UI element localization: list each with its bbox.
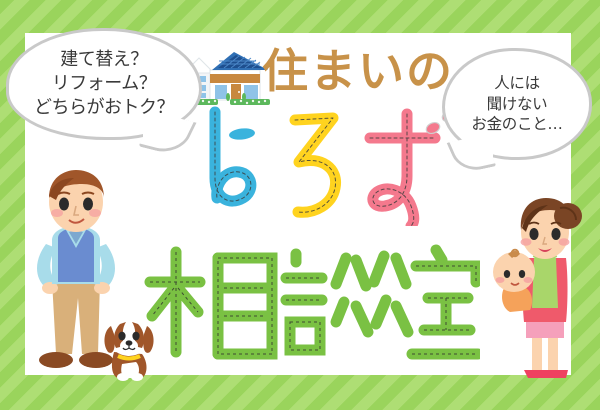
dog-character <box>98 312 160 382</box>
woman-with-baby-character <box>488 196 594 384</box>
headline-main-yorozu <box>185 106 465 226</box>
char-dan <box>286 254 408 350</box>
char-yo <box>215 112 251 201</box>
headline-subtitle: 住まいの <box>262 48 454 94</box>
char-shitsu <box>412 250 478 354</box>
question-bubble-left: 建て替え？ リフォーム？ どちらがおトク？ <box>6 28 202 140</box>
char-su <box>370 114 435 226</box>
question-bubble-left-text: 建て替え？ リフォーム？ どちらがおトク？ <box>34 48 174 119</box>
question-bubble-right-text: 人には 聞けない お金のこと… <box>471 73 562 134</box>
question-bubble-right: 人には 聞けない お金のこと… <box>442 48 592 160</box>
headline-room-soudanshitsu: 相談室 <box>140 236 480 364</box>
bubble-right-tail-mask <box>457 147 493 158</box>
poster-root: 住まいの <box>0 0 600 410</box>
bubble-left-tail-mask <box>143 127 185 139</box>
char-sou <box>150 252 272 354</box>
char-ro <box>295 118 336 212</box>
